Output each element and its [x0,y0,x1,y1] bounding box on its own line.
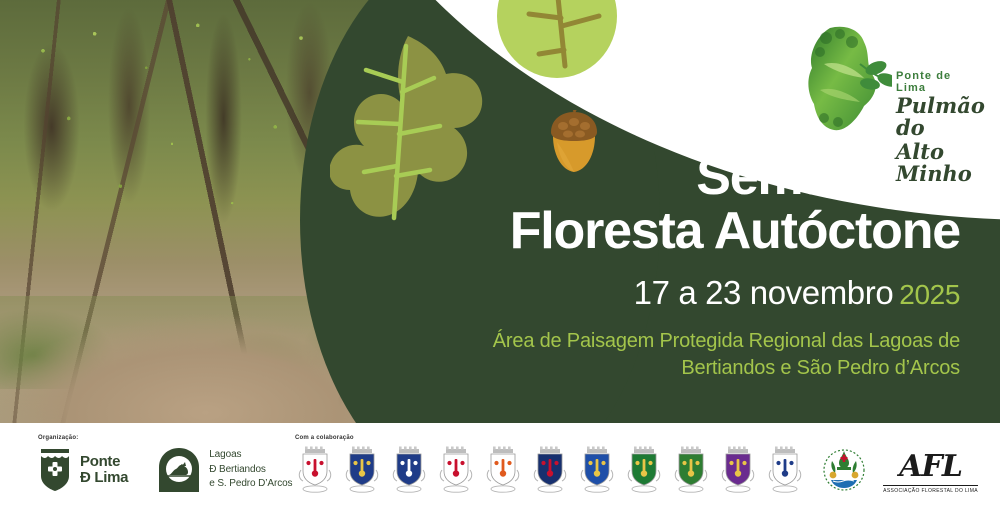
title-line-1: Semana da [400,150,960,204]
parish-crests-row [295,446,805,494]
crest-6[interactable] [530,446,570,494]
lagoas-line-2: Ð Bertiandos [209,463,292,478]
collaborators-group: Com a colaboração [295,435,805,494]
event-dates: 17 a 23 novembro2025 [400,274,960,312]
crest-2[interactable] [342,446,382,494]
event-year: 2025 [899,279,960,310]
organizacao-label: Organização: [38,435,292,441]
crest-1[interactable] [295,446,335,494]
municipality-map-icon [800,24,892,136]
afl-mark: AFL [883,452,978,482]
lagoas-line-3: e S. Pedro D’Arcos [209,477,292,492]
brand-line-3: Alto Minho [896,141,985,186]
brand-line-2: Pulmão do [896,95,985,140]
ponte-de-lima-coat-of-arms-icon [38,448,72,492]
pl-line-2: Ð Lima [80,470,128,486]
promotional-banner: Semana da Floresta Autóctone 17 a 23 nov… [0,0,1000,523]
scouts-logo[interactable] [823,447,865,498]
title-line-2: Floresta Autóctone [400,204,960,258]
afl-subtitle: ASSOCIAÇÃO FLORESTAL DO LIMA [883,488,978,494]
lagoas-line-1: Lagoas [209,448,292,463]
headline-block: Semana da Floresta Autóctone 17 a 23 nov… [400,150,960,382]
crest-10[interactable] [718,446,758,494]
lagoas-wordmark: Lagoas Ð Bertiandos e S. Pedro D’Arcos [209,448,292,492]
crest-5[interactable] [483,446,523,494]
colaboracao-label: Com a colaboração [295,435,805,441]
event-location: Área de Paisagem Protegida Regional das … [400,328,960,382]
pl-line-1: Ponte [80,454,128,470]
round-leaf-icon [495,0,620,88]
date-range: 17 a 23 novembro [634,274,894,311]
hero-section: Semana da Floresta Autóctone 17 a 23 nov… [0,0,1000,423]
afl-divider [883,485,978,486]
crest-9[interactable] [671,446,711,494]
organizers-group: Organização: Ponte [38,435,292,493]
ponte-de-lima-logo[interactable]: Ponte Ð Lima [38,448,128,492]
lagoas-wolf-arch-icon [158,447,200,493]
crest-7[interactable] [577,446,617,494]
brand-line-1: Ponte de Lima [896,70,985,94]
scouts-fleur-de-lis-icon [823,447,865,493]
afl-logo[interactable]: AFL ASSOCIAÇÃO FLORESTAL DO LIMA [883,452,978,494]
partner-logos-group: AFL ASSOCIAÇÃO FLORESTAL DO LIMA [823,447,978,498]
crest-3[interactable] [389,446,429,494]
location-line-1: Área de Paisagem Protegida Regional das … [400,328,960,355]
ponte-de-lima-wordmark: Ponte Ð Lima [80,454,128,486]
footer-logos-bar: Organização: Ponte [0,423,1000,523]
crest-4[interactable] [436,446,476,494]
brand-wordmark: Ponte de Lima Pulmão do Alto Minho [896,70,985,185]
crest-8[interactable] [624,446,664,494]
lagoas-logo[interactable]: Lagoas Ð Bertiandos e S. Pedro D’Arcos [158,447,292,493]
pulmao-do-alto-minho-logo: Ponte de Lima Pulmão do Alto Minho [800,24,978,142]
location-line-2: Bertiandos e São Pedro d’Arcos [400,355,960,382]
crest-11[interactable] [765,446,805,494]
